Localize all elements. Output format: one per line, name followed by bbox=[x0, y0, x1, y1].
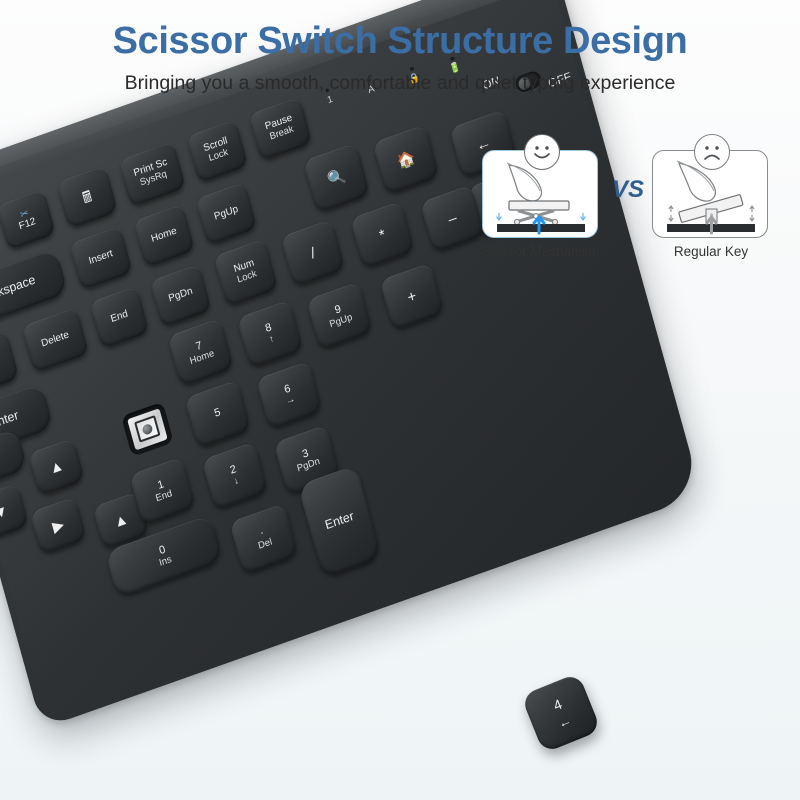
scissor-mechanism-panel: Scissor Mechanism bbox=[482, 136, 600, 240]
header: Scissor Switch Structure Design Bringing… bbox=[0, 0, 800, 95]
regular-key-caption: Regular Key bbox=[636, 244, 786, 259]
home-icon: 🏠 bbox=[395, 149, 417, 170]
detached-keycap-4[interactable]: 4 ← bbox=[521, 673, 602, 754]
page-subtitle: Bringing you a smooth, comfortable and q… bbox=[0, 72, 800, 95]
scissor-mechanism-caption: Scissor Mechanism bbox=[466, 244, 616, 259]
comparison-diagram: Scissor Mechanism VS bbox=[482, 136, 788, 276]
page-title: Scissor Switch Structure Design bbox=[0, 22, 800, 62]
smiley-face-icon bbox=[524, 134, 560, 170]
regular-key-panel: Regular Key bbox=[652, 136, 770, 240]
vs-label: VS bbox=[604, 176, 652, 204]
left-arrow-icon: ← bbox=[556, 712, 574, 731]
keyboard-body: 🖲 F11 ✂ F12 🖩 Print Sc SysRq Scroll Lock… bbox=[0, 0, 702, 729]
product-marketing-image: 🖲 F11 ✂ F12 🖩 Print Sc SysRq Scroll Lock… bbox=[0, 0, 800, 800]
calculator-icon: 🖩 bbox=[81, 188, 94, 205]
keyboard-deck bbox=[0, 0, 694, 717]
switch-dome bbox=[141, 423, 153, 436]
sad-face-icon bbox=[694, 134, 730, 170]
scissor-switch-mechanism bbox=[127, 408, 168, 450]
search-icon: 🔍 bbox=[326, 167, 348, 188]
